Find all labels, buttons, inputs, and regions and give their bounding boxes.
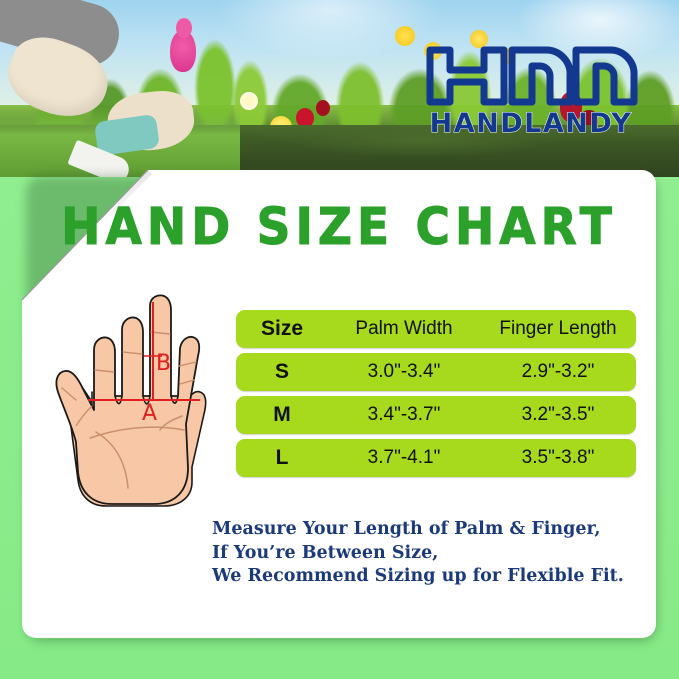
logo-letter-d1 [512, 50, 570, 102]
cell-palm-width: 3.0"-3.4" [328, 361, 480, 383]
hand-diagram: A B [32, 292, 228, 518]
sizing-note: Measure Your Length of Palm & Finger, If… [212, 518, 642, 589]
cell-size: M [236, 403, 328, 427]
size-chart-page: HANDLANDY HAND SIZE CHART [0, 0, 679, 679]
header-banner-image: HANDLANDY [0, 0, 679, 177]
cell-size: S [236, 360, 328, 384]
size-table: Size Palm Width Finger Length S 3.0"-3.4… [236, 310, 636, 482]
cell-size: L [236, 446, 328, 470]
cell-palm-width: 3.7"-4.1" [328, 447, 480, 469]
logo-wordmark: HANDLANDY [430, 108, 633, 136]
handlandy-logo[interactable]: HANDLANDY [424, 44, 638, 136]
logo-letter-d2 [576, 50, 634, 102]
page-title: HAND SIZE CHART [22, 198, 656, 257]
column-header-palm-width: Palm Width [328, 318, 480, 340]
table-header-row: Size Palm Width Finger Length [236, 310, 636, 348]
flower-red-2 [316, 100, 330, 116]
sizing-note-line-2: If You’re Between Size, [212, 542, 642, 566]
logo-letter-h [430, 50, 504, 102]
sizing-note-line-1: Measure Your Length of Palm & Finger, [212, 518, 642, 542]
cell-palm-width: 3.4"-3.7" [328, 404, 480, 426]
flower-yellow-1 [395, 26, 415, 46]
sizing-note-line-3: We Recommend Sizing up for Flexible Fit. [212, 565, 642, 589]
flower-white-1 [240, 92, 258, 110]
table-row: M 3.4"-3.7" 3.2"-3.5" [236, 396, 636, 434]
cell-finger-length: 2.9"-3.2" [480, 361, 636, 383]
cell-finger-length: 3.5"-3.8" [480, 447, 636, 469]
measure-label-a: A [142, 401, 157, 426]
table-row: S 3.0"-3.4" 2.9"-3.2" [236, 353, 636, 391]
flower-pink-2 [176, 18, 192, 38]
cell-finger-length: 3.2"-3.5" [480, 404, 636, 426]
table-row: L 3.7"-4.1" 3.5"-3.8" [236, 439, 636, 477]
measure-label-b: B [156, 351, 171, 376]
column-header-size: Size [236, 317, 328, 341]
column-header-finger-length: Finger Length [480, 318, 636, 340]
